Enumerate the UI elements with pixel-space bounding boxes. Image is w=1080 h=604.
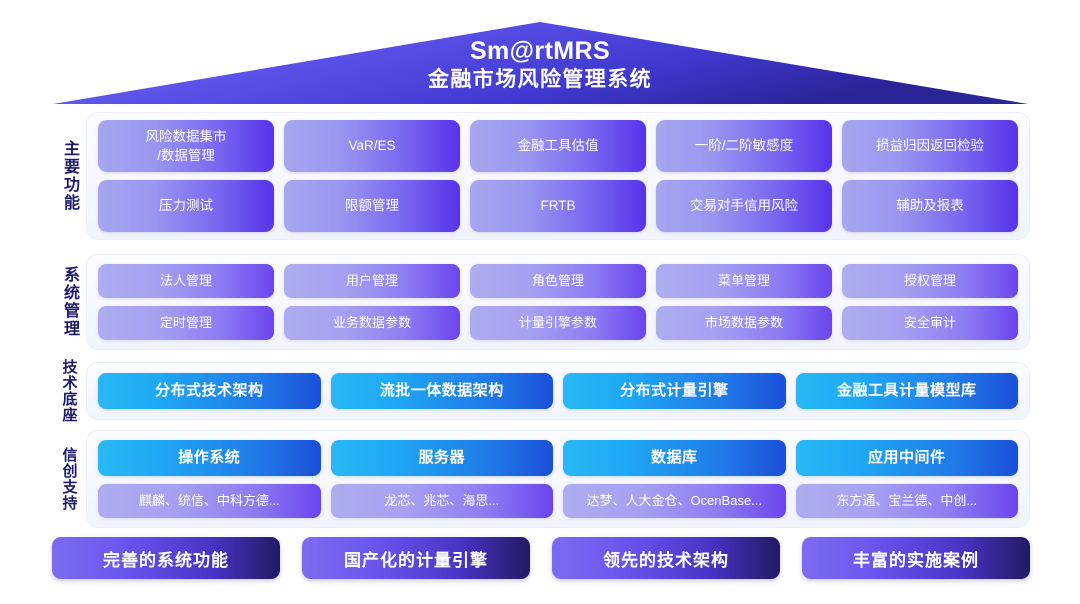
xinchuang-vendor-card[interactable]: 东方通、宝兰德、中创... xyxy=(796,484,1019,518)
xinchuang-category-card[interactable]: 应用中间件 xyxy=(796,440,1019,476)
system-card[interactable]: 授权管理 xyxy=(842,264,1018,298)
band-tech-foundation: 技术底座 分布式技术架构 流批一体数据架构 分布式计量引擎 金融工具计量模型库 xyxy=(52,362,1030,420)
feature-card[interactable]: FRTB xyxy=(470,180,646,232)
band-label-tech-foundation: 技术底座 xyxy=(52,362,86,420)
xinchuang-category-card[interactable]: 数据库 xyxy=(563,440,786,476)
band-label-system-management: 系统管理 xyxy=(52,254,86,350)
xinchuang-vendor-card[interactable]: 麒麟、统信、中科方德... xyxy=(98,484,321,518)
roof-triangle-icon xyxy=(0,0,1080,110)
system-card[interactable]: 菜单管理 xyxy=(656,264,832,298)
system-card[interactable]: 定时管理 xyxy=(98,306,274,340)
xinchuang-category-card[interactable]: 操作系统 xyxy=(98,440,321,476)
system-card[interactable]: 用户管理 xyxy=(284,264,460,298)
architecture-diagram: Sm@rtMRS 金融市场风险管理系统 主要功能 风险数据集市 /数据管理 Va… xyxy=(0,0,1080,604)
band-row-tech-foundation-1: 分布式技术架构 流批一体数据架构 分布式计量引擎 金融工具计量模型库 xyxy=(98,373,1018,409)
tech-card[interactable]: 金融工具计量模型库 xyxy=(796,373,1019,409)
feature-card[interactable]: 损益归因返回检验 xyxy=(842,120,1018,172)
feature-card[interactable]: 风险数据集市 /数据管理 xyxy=(98,120,274,172)
band-panel-main-functions: 风险数据集市 /数据管理 VaR/ES 金融工具估值 一阶/二阶敏感度 损益归因… xyxy=(86,112,1030,240)
band-row-xinchuang-support-2: 麒麟、统信、中科方德... 龙芯、兆芯、海思... 达梦、人大金仓、OcenBa… xyxy=(98,484,1018,518)
band-xinchuang-support: 信创支持 操作系统 服务器 数据库 应用中间件 麒麟、统信、中科方德... 龙芯… xyxy=(52,430,1030,528)
feature-card[interactable]: 限额管理 xyxy=(284,180,460,232)
band-panel-system-management: 法人管理 用户管理 角色管理 菜单管理 授权管理 定时管理 业务数据参数 计量引… xyxy=(86,254,1030,350)
band-label-main-functions: 主要功能 xyxy=(52,112,86,240)
tech-card[interactable]: 分布式计量引擎 xyxy=(563,373,786,409)
highlight-card[interactable]: 领先的技术架构 xyxy=(552,537,780,579)
feature-card[interactable]: 一阶/二阶敏感度 xyxy=(656,120,832,172)
system-card[interactable]: 角色管理 xyxy=(470,264,646,298)
feature-card[interactable]: 交易对手信用风险 xyxy=(656,180,832,232)
roof-banner: Sm@rtMRS 金融市场风险管理系统 xyxy=(0,0,1080,110)
band-panel-xinchuang-support: 操作系统 服务器 数据库 应用中间件 麒麟、统信、中科方德... 龙芯、兆芯、海… xyxy=(86,430,1030,528)
highlight-card[interactable]: 丰富的实施案例 xyxy=(802,537,1030,579)
band-row-main-functions-1: 风险数据集市 /数据管理 VaR/ES 金融工具估值 一阶/二阶敏感度 损益归因… xyxy=(98,120,1018,172)
feature-card[interactable]: VaR/ES xyxy=(284,120,460,172)
tech-card[interactable]: 流批一体数据架构 xyxy=(331,373,554,409)
xinchuang-vendor-card[interactable]: 达梦、人大金仓、OcenBase... xyxy=(563,484,786,518)
system-card[interactable]: 计量引擎参数 xyxy=(470,306,646,340)
xinchuang-vendor-card[interactable]: 龙芯、兆芯、海思... xyxy=(331,484,554,518)
band-row-system-management-1: 法人管理 用户管理 角色管理 菜单管理 授权管理 xyxy=(98,264,1018,298)
band-row-system-management-2: 定时管理 业务数据参数 计量引擎参数 市场数据参数 安全审计 xyxy=(98,306,1018,340)
highlight-card[interactable]: 国产化的计量引擎 xyxy=(302,537,530,579)
band-main-functions: 主要功能 风险数据集市 /数据管理 VaR/ES 金融工具估值 一阶/二阶敏感度… xyxy=(52,112,1030,240)
highlight-card[interactable]: 完善的系统功能 xyxy=(52,537,280,579)
feature-card[interactable]: 辅助及报表 xyxy=(842,180,1018,232)
feature-card[interactable]: 金融工具估值 xyxy=(470,120,646,172)
band-system-management: 系统管理 法人管理 用户管理 角色管理 菜单管理 授权管理 定时管理 业务数据参… xyxy=(52,254,1030,350)
tech-card[interactable]: 分布式技术架构 xyxy=(98,373,321,409)
feature-card[interactable]: 压力测试 xyxy=(98,180,274,232)
band-label-xinchuang-support: 信创支持 xyxy=(52,430,86,528)
band-row-main-functions-2: 压力测试 限额管理 FRTB 交易对手信用风险 辅助及报表 xyxy=(98,180,1018,232)
xinchuang-category-card[interactable]: 服务器 xyxy=(331,440,554,476)
band-row-xinchuang-support-1: 操作系统 服务器 数据库 应用中间件 xyxy=(98,440,1018,476)
system-card[interactable]: 安全审计 xyxy=(842,306,1018,340)
band-panel-tech-foundation: 分布式技术架构 流批一体数据架构 分布式计量引擎 金融工具计量模型库 xyxy=(86,362,1030,420)
system-card[interactable]: 市场数据参数 xyxy=(656,306,832,340)
system-card[interactable]: 法人管理 xyxy=(98,264,274,298)
system-card[interactable]: 业务数据参数 xyxy=(284,306,460,340)
footer-highlights: 完善的系统功能 国产化的计量引擎 领先的技术架构 丰富的实施案例 xyxy=(52,537,1030,579)
